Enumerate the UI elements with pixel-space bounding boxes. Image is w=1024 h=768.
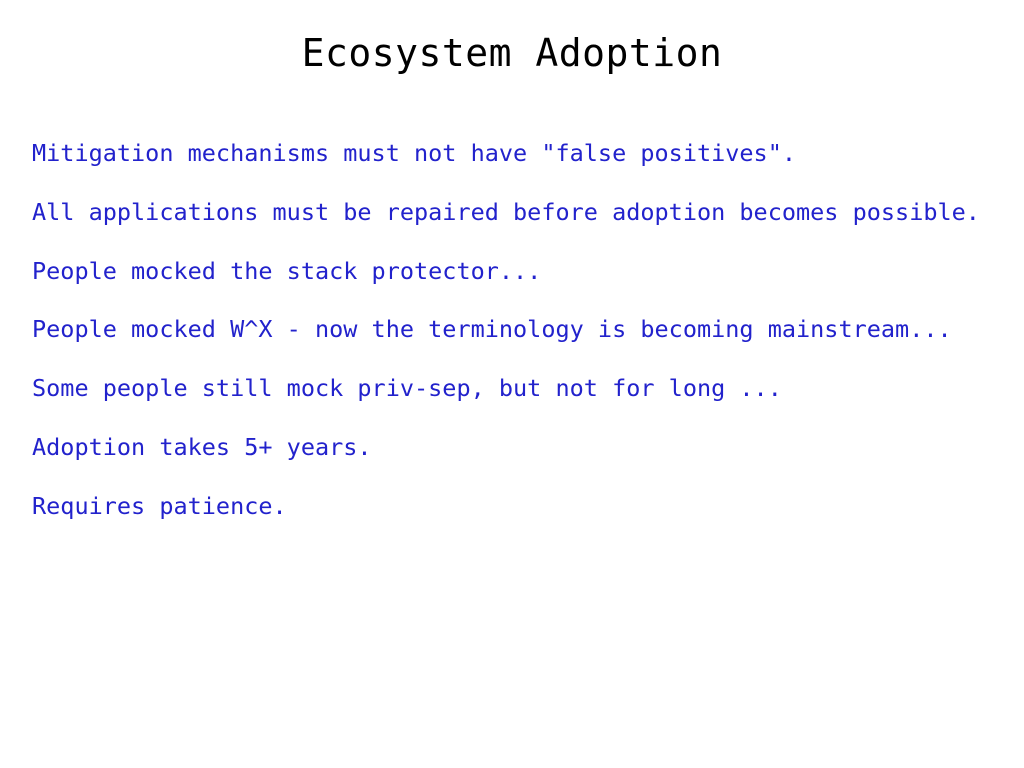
presentation-slide: Ecosystem Adoption Mitigation mechanisms… bbox=[0, 0, 1024, 768]
page-title: Ecosystem Adoption bbox=[0, 30, 1024, 76]
body-line: People mocked W^X - now the terminology … bbox=[32, 300, 1000, 359]
body-line: Requires patience. bbox=[32, 477, 1000, 536]
body-line: Some people still mock priv-sep, but not… bbox=[32, 359, 1000, 418]
slide-body: Mitigation mechanisms must not have "fal… bbox=[32, 124, 1000, 536]
body-line: All applications must be repaired before… bbox=[32, 183, 1000, 242]
body-line: People mocked the stack protector... bbox=[32, 242, 1000, 301]
body-line: Mitigation mechanisms must not have "fal… bbox=[32, 124, 1000, 183]
body-line: Adoption takes 5+ years. bbox=[32, 418, 1000, 477]
